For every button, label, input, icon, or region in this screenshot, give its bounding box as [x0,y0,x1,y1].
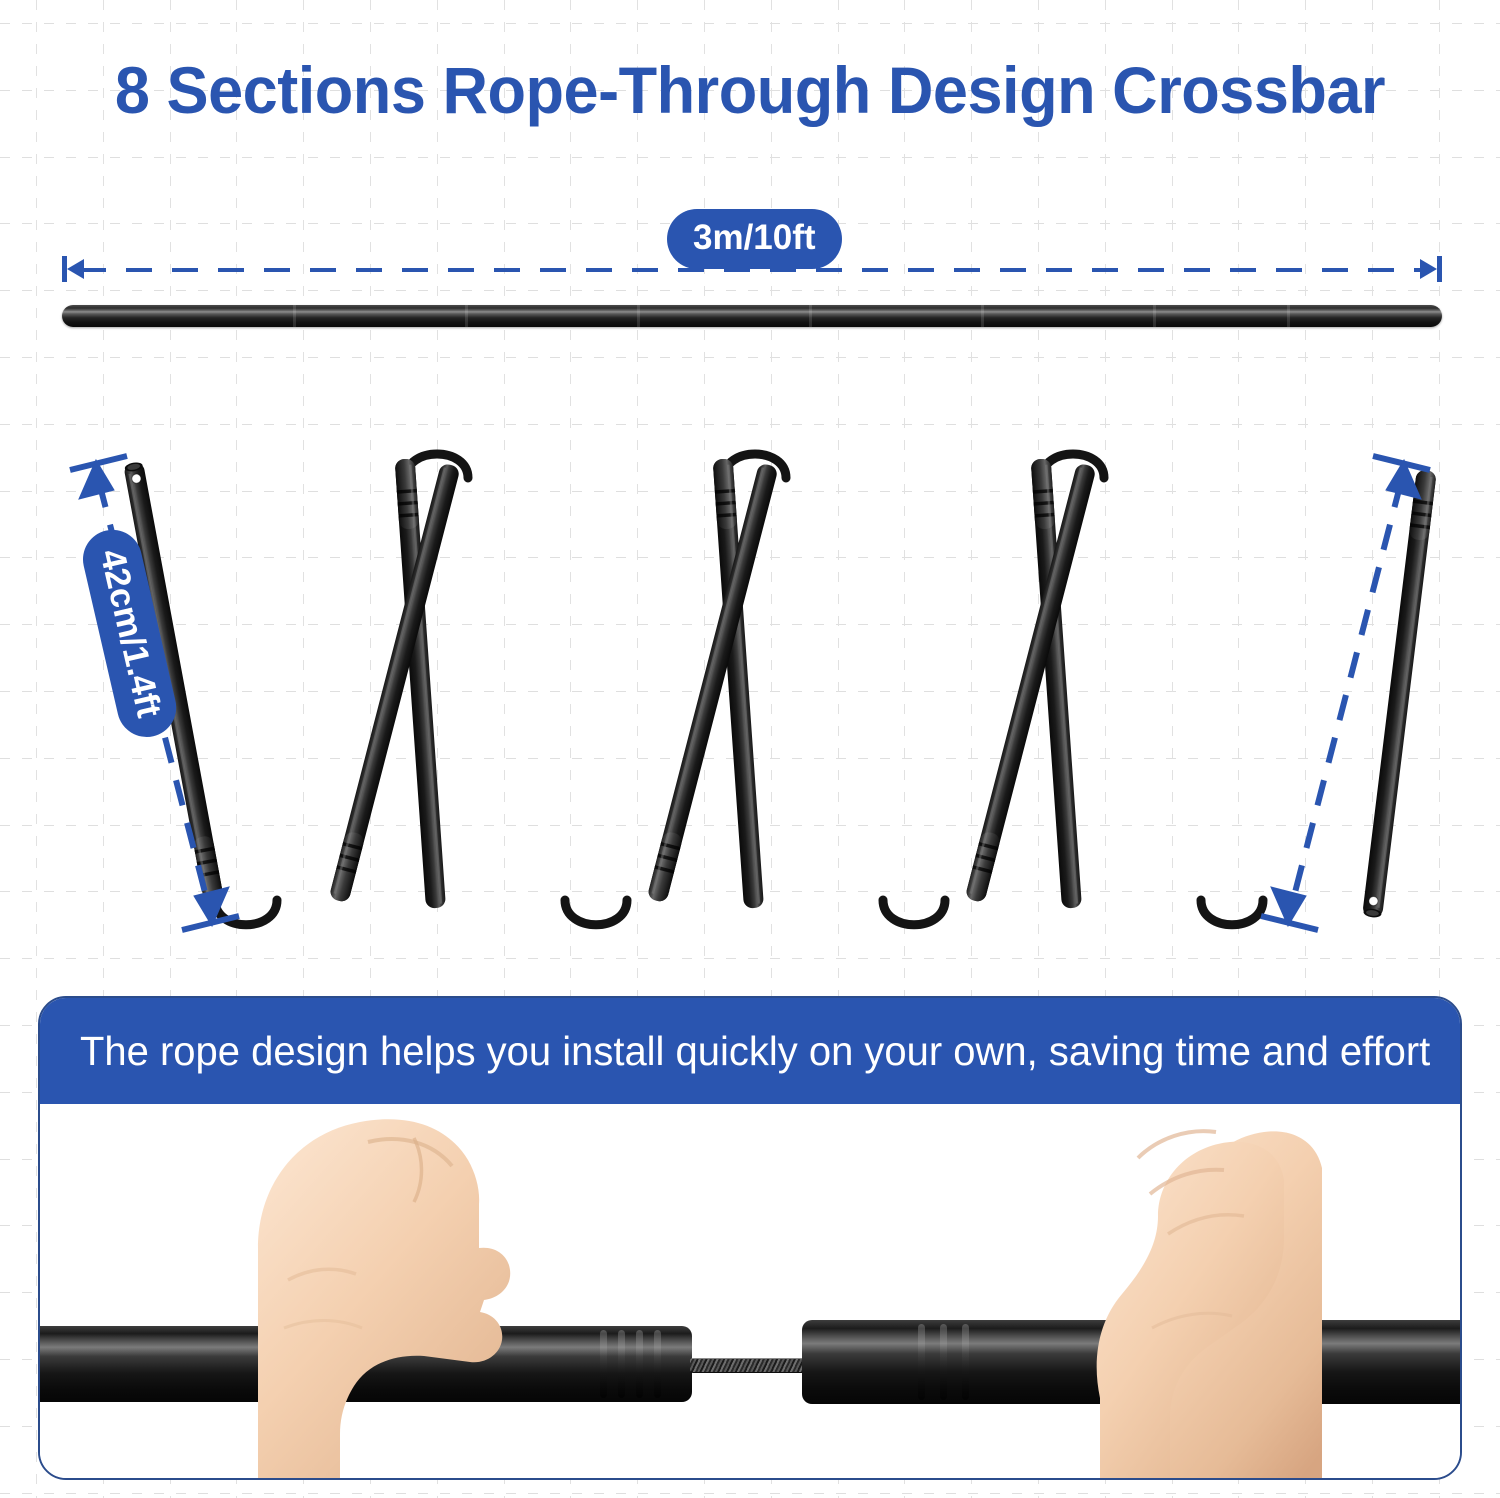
feature-panel: The rope design helps you install quickl… [38,996,1462,1480]
ferrule-rib [918,1324,925,1400]
ferrule-rib [654,1330,661,1398]
internal-rope-cord [690,1358,812,1373]
assembled-crossbar-pole [62,305,1442,327]
ferrule-rib [940,1324,947,1400]
grid-line-horizontal [0,424,1500,425]
installation-photo [40,1104,1460,1480]
pole-joint [981,305,984,327]
left-hand-gripping-pole [218,1098,548,1480]
ferrule-rib [636,1330,643,1398]
pole-joint [293,305,296,327]
pole-joint [465,305,468,327]
ferrule-rib [962,1324,969,1400]
grid-line-horizontal [0,157,1500,158]
dimension-dashed-line [80,268,1424,272]
horizontal-dimension-arrow [62,256,1442,282]
feature-panel-header: The rope design helps you install quickl… [40,998,1460,1104]
ferrule-rib [600,1330,607,1398]
grid-line-horizontal [0,357,1500,358]
grid-line-horizontal [0,290,1500,291]
arrowhead-right-icon [1420,259,1437,279]
folded-pole-sections [123,458,1437,918]
page-title: 8 Sections Rope-Through Design Crossbar [34,52,1467,128]
pole-joint [1153,305,1156,327]
dimension-cap-right [1437,256,1442,282]
feature-caption: The rope design helps you install quickl… [80,1028,1430,1075]
arrowhead-left-icon [67,259,84,279]
grid-line-horizontal [0,23,1500,24]
grid-line-horizontal [0,1493,1500,1494]
ferrule-rib [618,1330,625,1398]
pole-joint [1287,305,1290,327]
pole-joint [637,305,640,327]
right-hand-gripping-pole [992,1098,1332,1480]
pole-section [1362,469,1437,918]
pole-joint [809,305,812,327]
folded-crossbar-diagram [0,430,1500,960]
